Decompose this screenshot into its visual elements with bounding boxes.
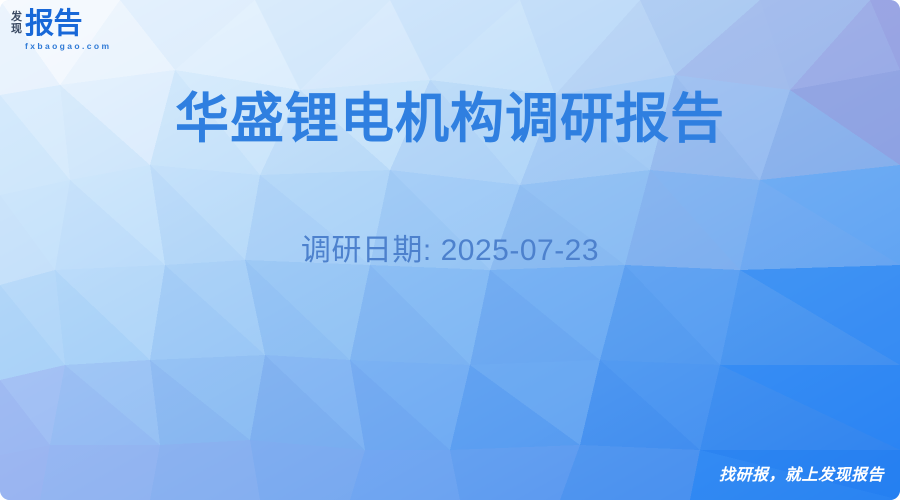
site-logo[interactable]: 发 现 报告 fxbaogao.com: [11, 10, 111, 52]
cover-subtitle: 调研日期: 2025-07-23: [0, 232, 900, 270]
logo-mark-line-1: 发: [11, 12, 22, 24]
logo-mark: 发 现: [11, 10, 22, 35]
logo-wordmark: 报告: [25, 10, 111, 39]
page-title: 华盛锂电机构调研报告: [0, 88, 900, 150]
footer-slogan: 找研报，就上发现报告: [719, 466, 884, 486]
cover-title-block: 华盛锂电机构调研报告: [0, 88, 900, 150]
logo-text-group: 报告 fxbaogao.com: [25, 10, 111, 52]
report-cover: 发 现 报告 fxbaogao.com 华盛锂电机构调研报告 调研日期: 202…: [0, 0, 900, 500]
logo-mark-line-2: 现: [11, 24, 22, 36]
logo-url: fxbaogao.com: [25, 41, 111, 52]
